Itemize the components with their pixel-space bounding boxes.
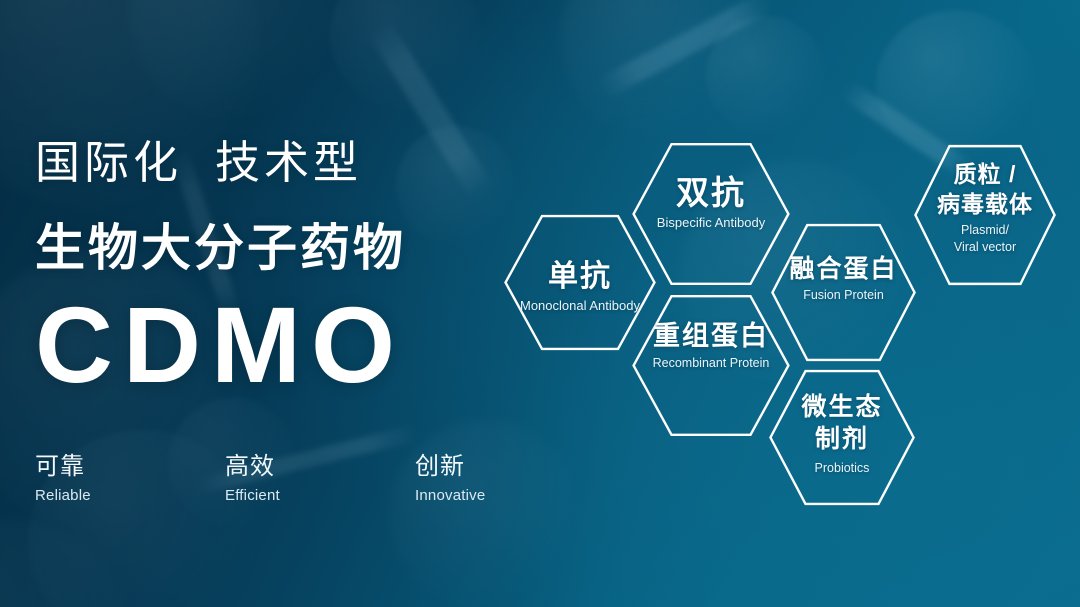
hexagon-label-cn: 质粒 / 病毒载体 (920, 159, 1050, 219)
hexagon-label-cn: 双抗 (638, 174, 784, 211)
hexagon-label-en: Probiotics (775, 461, 909, 476)
hexagon-probiotics[interactable]: 微生态 制剂 Probiotics (769, 369, 915, 506)
hexagon-label-en: Monoclonal Antibody (510, 298, 650, 314)
hexagon-label-en: Recombinant Protein (638, 356, 784, 371)
hexagon-label-group: 单抗 Monoclonal Antibody (504, 260, 656, 314)
hexagon-label-cn: 融合蛋白 (777, 255, 910, 284)
hexagon-label-group: 重组蛋白 Recombinant Protein (632, 321, 790, 371)
hexagon-label-group: 融合蛋白 Fusion Protein (771, 255, 916, 303)
hexagon-plasmid-viral-vector[interactable]: 质粒 / 病毒载体 Plasmid/ Viral vector (914, 144, 1056, 286)
hexagon-recombinant-protein[interactable]: 重组蛋白 Recombinant Protein (632, 294, 790, 437)
hexagon-label-group: 双抗 Bispecific Antibody (632, 174, 790, 231)
hexagon-label-cn: 重组蛋白 (638, 321, 784, 352)
hexagon-label-group: 质粒 / 病毒载体 Plasmid/ Viral vector (914, 159, 1056, 256)
hexagon-fusion-protein[interactable]: 融合蛋白 Fusion Protein (771, 223, 916, 362)
poster-canvas: 国际化 技术型 生物大分子药物 CDMO 可靠 Reliable 高效 Effi… (0, 0, 1080, 607)
hexagon-label-cn: 单抗 (510, 260, 650, 294)
hexagon-cluster: 单抗 Monoclonal Antibody 双抗 Bispecific Ant… (0, 0, 1080, 607)
hexagon-label-en: Plasmid/ Viral vector (920, 222, 1050, 256)
hexagon-label-en: Bispecific Antibody (638, 215, 784, 231)
hexagon-label-group: 微生态 制剂 Probiotics (769, 391, 915, 476)
hexagon-label-cn: 微生态 制剂 (775, 391, 909, 455)
hexagon-label-en: Fusion Protein (777, 288, 910, 303)
